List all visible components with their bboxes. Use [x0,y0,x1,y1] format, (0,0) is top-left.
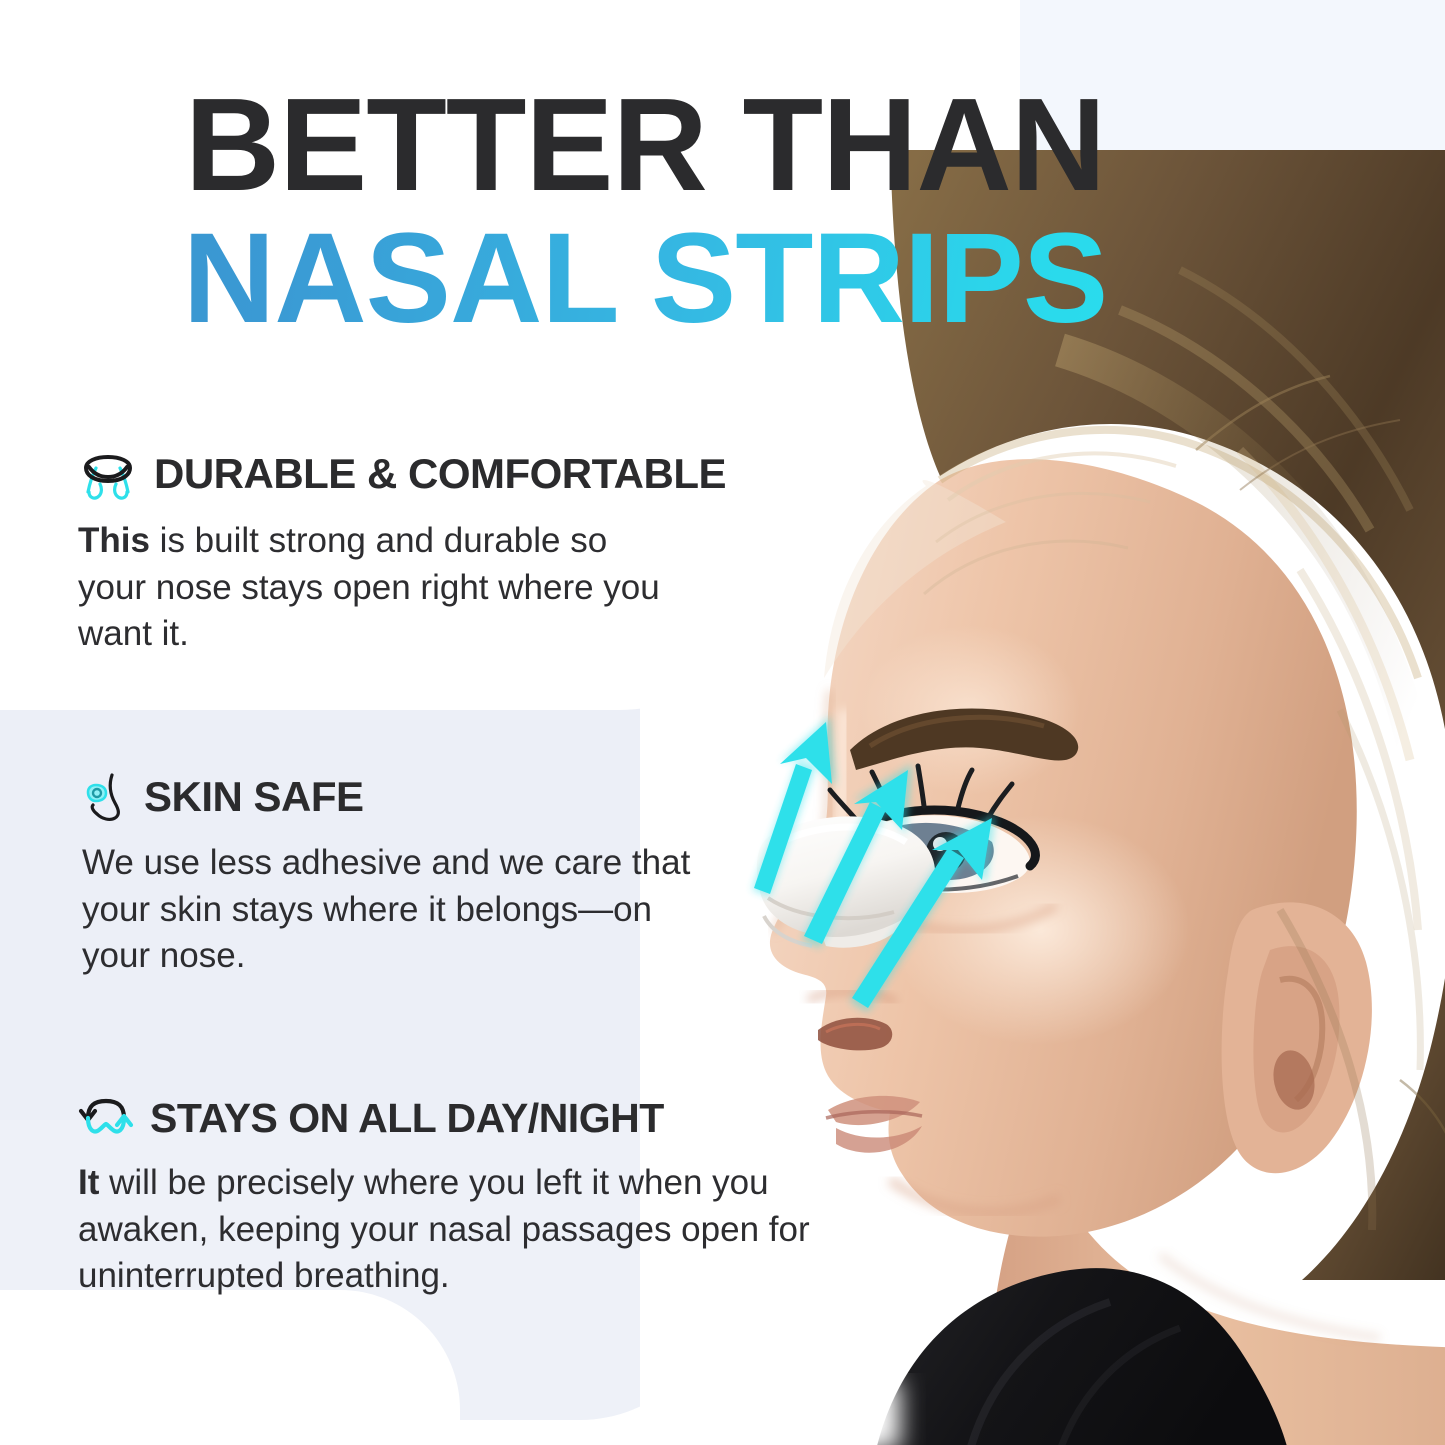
feature-heading-row: SKIN SAFE [82,772,702,822]
nasal-dilator-icon [78,448,138,500]
product-infographic: BETTER THAN NASAL STRIPS DURABLE & COMFO… [0,0,1445,1445]
feature-stays-on-all-day-night: STAYS ON ALL DAY/NIGHT It will be precis… [78,1094,868,1300]
feature-title: SKIN SAFE [144,773,364,821]
feature-body-rest: is built strong and durable so your nose… [78,521,660,653]
feature-body-rest: We use less adhesive and we care that yo… [82,843,690,975]
feature-list: DURABLE & COMFORTABLE This is built stro… [0,0,860,1445]
feature-body: This is built strong and durable so your… [78,518,678,658]
feature-durable-comfortable: DURABLE & COMFORTABLE This is built stro… [78,448,838,658]
feature-body-rest: will be precisely where you left it when… [78,1163,810,1295]
feature-body: It will be precisely where you left it w… [78,1160,868,1300]
feature-heading-row: DURABLE & COMFORTABLE [78,448,838,500]
feature-heading-row: STAYS ON ALL DAY/NIGHT [78,1094,868,1142]
feature-body: We use less adhesive and we care that yo… [82,840,702,980]
feature-title: STAYS ON ALL DAY/NIGHT [150,1095,664,1142]
feature-body-bold: This [78,521,150,560]
feature-title: DURABLE & COMFORTABLE [154,450,726,498]
cycle-loop-icon [78,1094,134,1142]
nose-patch-icon [82,772,128,822]
feature-body-bold: It [78,1163,99,1202]
feature-skin-safe: SKIN SAFE We use less adhesive and we ca… [82,772,702,980]
